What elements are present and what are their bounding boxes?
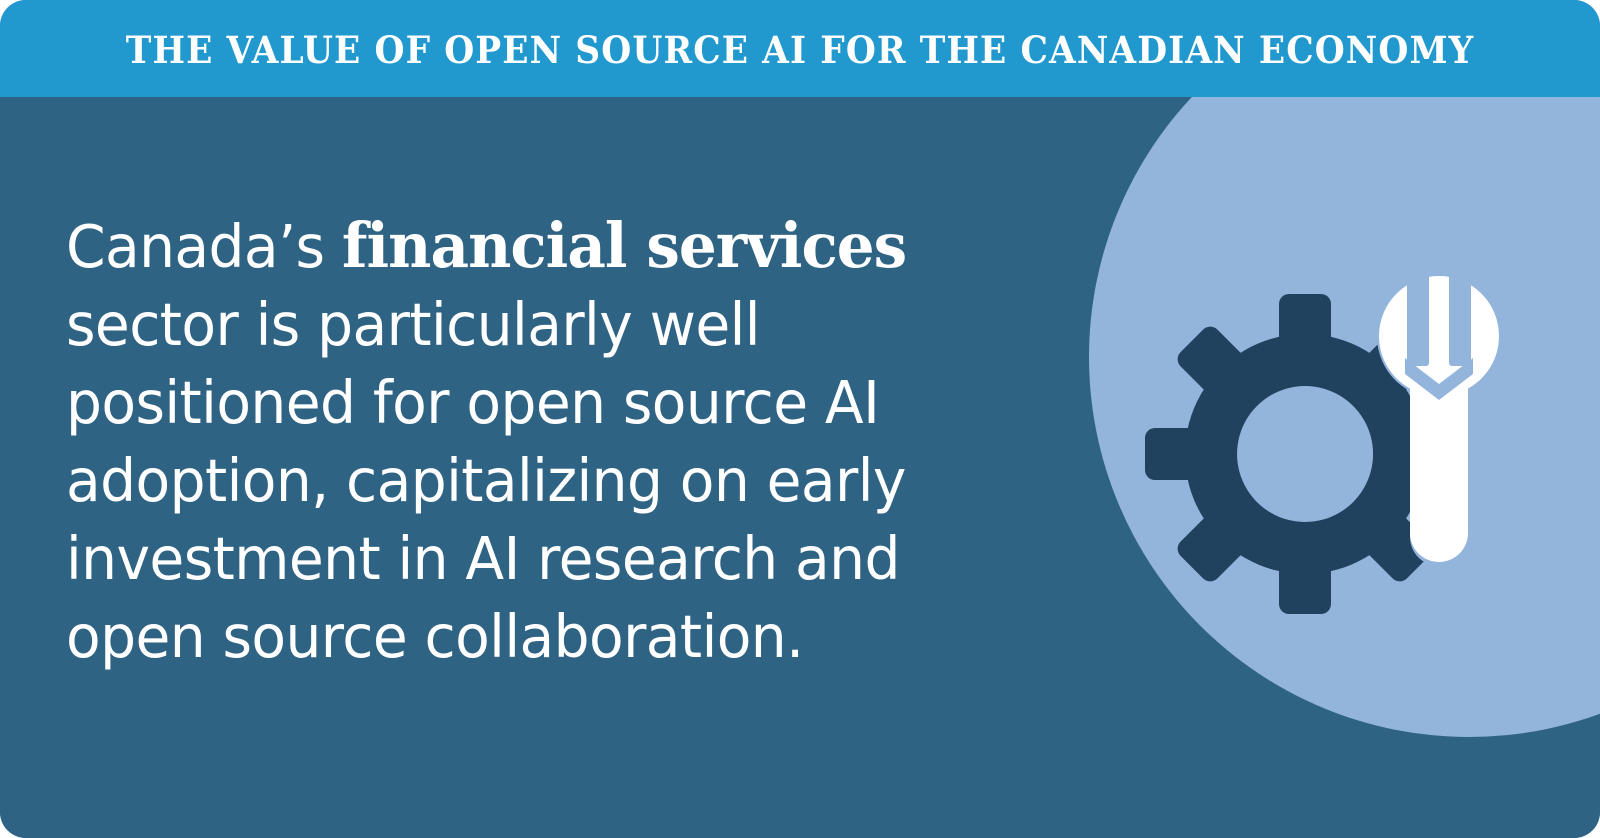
gear-wrench-illustration <box>1155 282 1535 632</box>
header-banner: THE VALUE OF OPEN SOURCE AI FOR THE CANA… <box>0 0 1600 97</box>
statement-rest: sector is particularly well positioned f… <box>66 290 906 671</box>
statement-emphasis: financial services <box>342 209 906 282</box>
statement-text: Canada’s financial services sector is pa… <box>66 207 1036 676</box>
infographic-card: THE VALUE OF OPEN SOURCE AI FOR THE CANA… <box>0 0 1600 838</box>
statement-lead: Canada’s <box>66 212 342 281</box>
page-title: THE VALUE OF OPEN SOURCE AI FOR THE CANA… <box>126 29 1475 69</box>
content-panel: Canada’s financial services sector is pa… <box>0 97 1600 838</box>
